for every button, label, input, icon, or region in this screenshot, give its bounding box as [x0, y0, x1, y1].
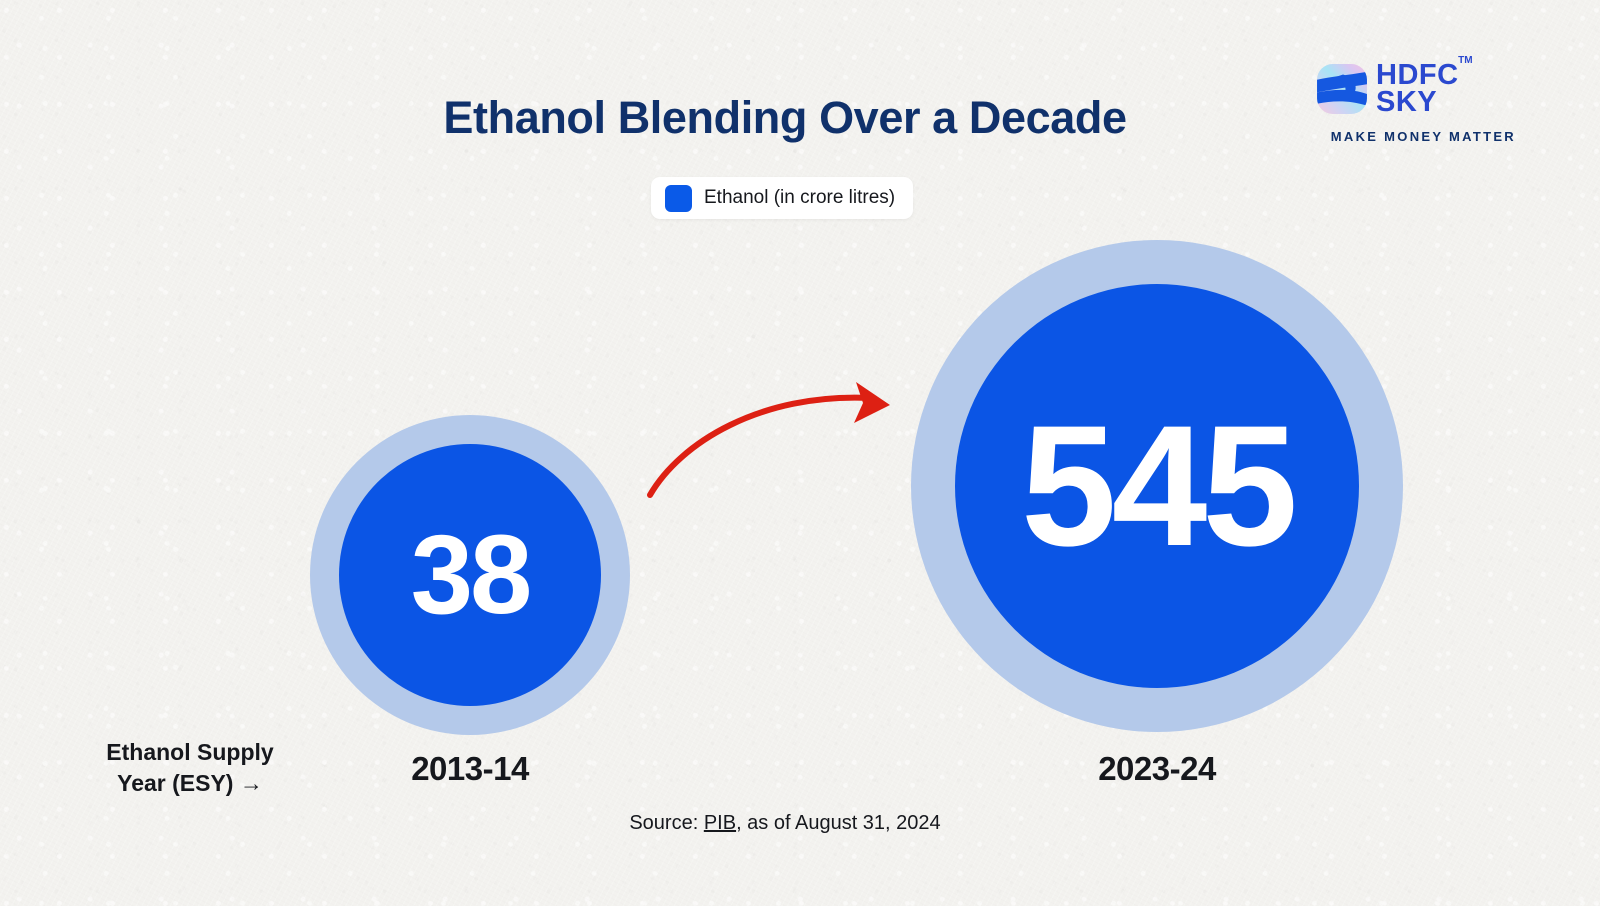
brand-name-line2: SKY: [1376, 89, 1459, 116]
chart-legend: Ethanol (in crore litres): [651, 177, 913, 219]
source-link[interactable]: PIB: [704, 812, 736, 834]
bubble-2023-24: 545: [911, 240, 1403, 732]
source-note: Source: PIB, as of August 31, 2024: [0, 812, 1570, 835]
category-label-2013-14: 2013-14: [320, 750, 620, 788]
infographic-canvas: Ethanol Blending Over a Decade Ethanol (…: [0, 0, 1600, 906]
source-prefix: Source:: [629, 812, 703, 834]
growth-arrow-icon: [620, 365, 920, 515]
bubble-2013-14-inner: 38: [339, 444, 601, 706]
hdfc-sky-logo-icon: [1316, 63, 1368, 115]
brand-tagline: MAKE MONEY MATTER: [1316, 129, 1516, 144]
category-label-2023-24: 2023-24: [1007, 750, 1307, 788]
x-axis-caption: Ethanol Supply Year (ESY) →: [60, 737, 320, 799]
brand-wordmark: HDFC SKY TM: [1376, 62, 1459, 115]
bubble-2013-14: 38: [310, 415, 630, 735]
source-suffix: , as of August 31, 2024: [736, 812, 941, 834]
legend-color-swatch-icon: [665, 185, 692, 212]
brand-trademark-icon: TM: [1458, 56, 1472, 65]
brand-logo-row: HDFC SKY TM: [1316, 58, 1516, 120]
brand-name-line1: HDFC: [1376, 62, 1459, 89]
brand-logo[interactable]: HDFC SKY TM MAKE MONEY MATTER: [1316, 58, 1516, 154]
x-axis-caption-line1: Ethanol Supply: [60, 737, 320, 768]
x-axis-caption-line2: Year (ESY) →: [60, 768, 320, 799]
bubble-2023-24-inner: 545: [955, 284, 1359, 688]
bubble-2013-14-value: 38: [411, 519, 530, 631]
legend-label: Ethanol (in crore litres): [704, 187, 895, 209]
bubble-2023-24-value: 545: [1021, 400, 1293, 572]
